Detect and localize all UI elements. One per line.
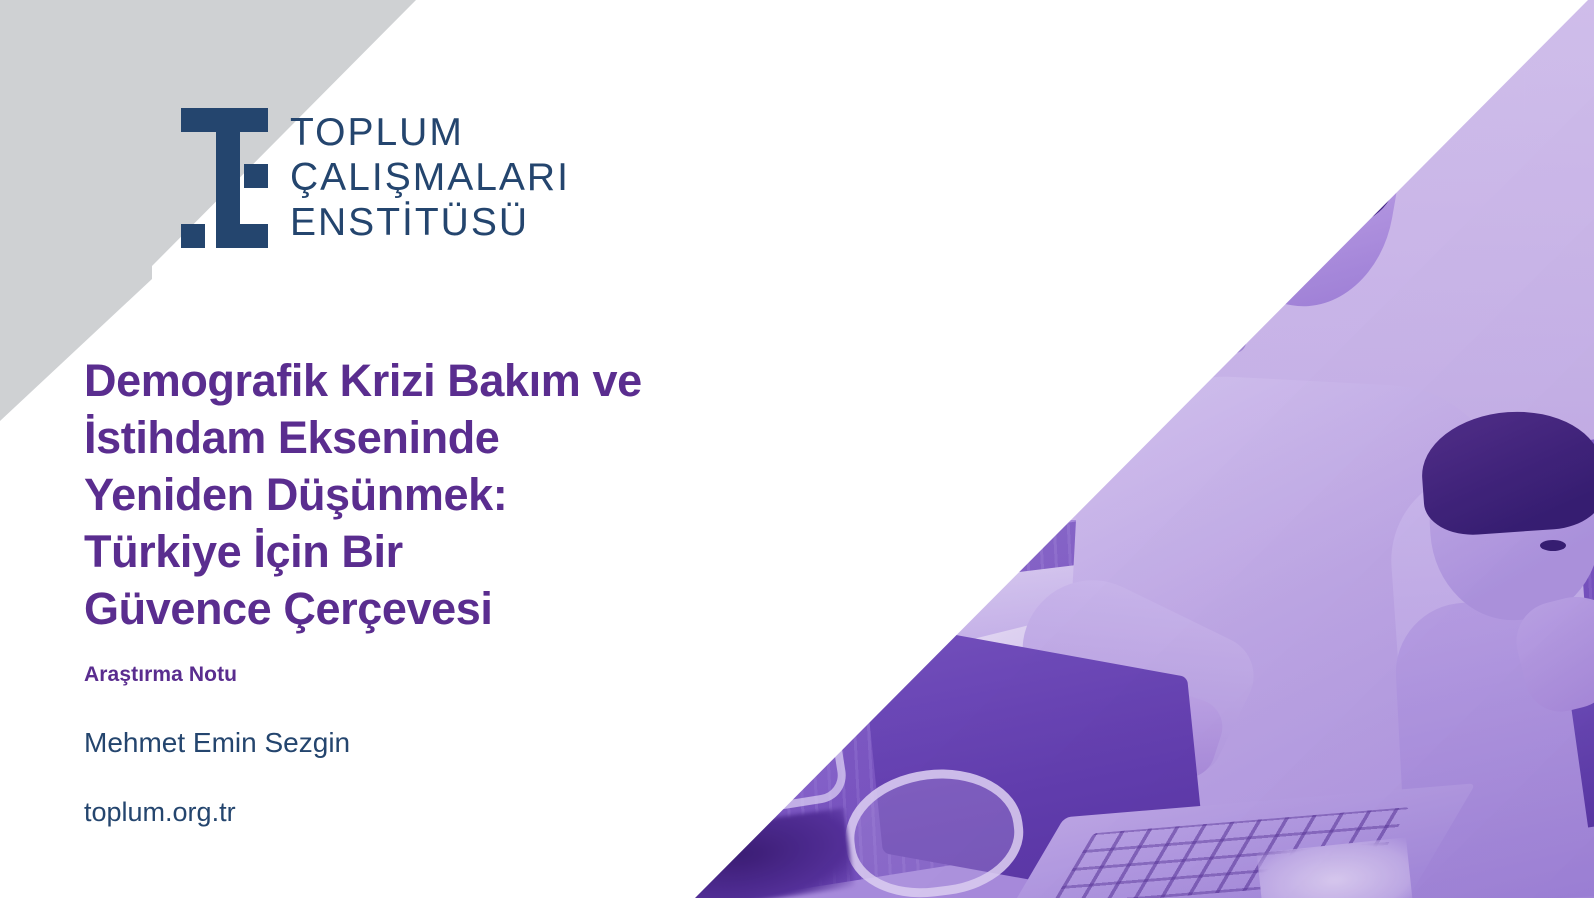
author-name: Mehmet Emin Sezgin bbox=[84, 727, 804, 759]
document-type-label: Araştırma Notu bbox=[84, 663, 804, 687]
cover-content: Demografik Krizi Bakım ve İstihdam Eksen… bbox=[84, 352, 804, 828]
website-link[interactable]: toplum.org.tr bbox=[84, 797, 236, 828]
page-title: Demografik Krizi Bakım ve İstihdam Eksen… bbox=[84, 352, 804, 637]
title-line-1: Demografik Krizi Bakım ve bbox=[84, 355, 642, 406]
title-line-4: Türkiye İçin Bir bbox=[84, 526, 403, 577]
cover-page: TOPLUM ÇALIŞMALARI ENSTİTÜSÜ Demografik … bbox=[0, 0, 1594, 898]
wordmark-line-3: ENSTİTÜSÜ bbox=[290, 200, 570, 245]
title-line-5: Güvence Çerçevesi bbox=[84, 583, 492, 634]
toplum-t-monogram-icon bbox=[176, 108, 268, 248]
wordmark-line-2: ÇALIŞMALARI bbox=[290, 155, 570, 200]
title-line-2: İstihdam Ekseninde bbox=[84, 412, 499, 463]
institute-logo[interactable]: TOPLUM ÇALIŞMALARI ENSTİTÜSÜ bbox=[176, 108, 570, 248]
institute-wordmark: TOPLUM ÇALIŞMALARI ENSTİTÜSÜ bbox=[290, 108, 570, 245]
title-line-3: Yeniden Düşünmek: bbox=[84, 469, 507, 520]
wordmark-line-1: TOPLUM bbox=[290, 110, 570, 155]
